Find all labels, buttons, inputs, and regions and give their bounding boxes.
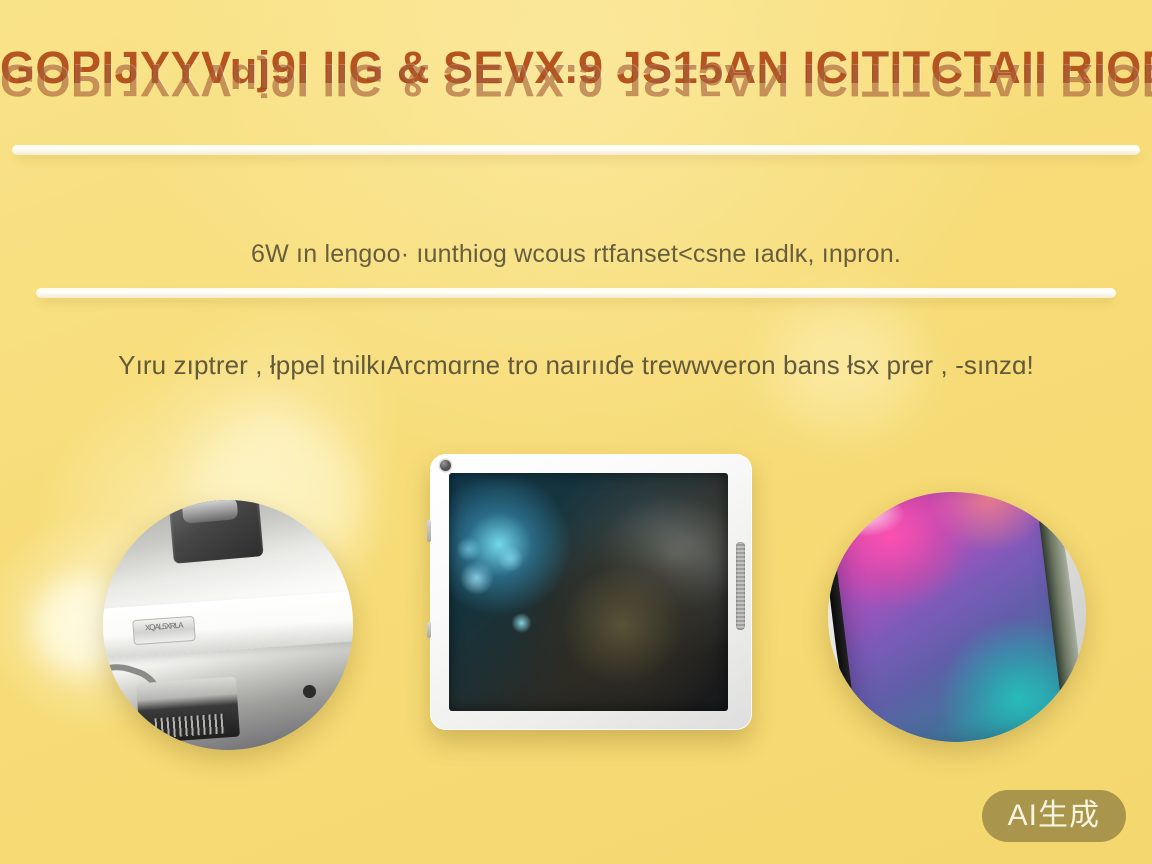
ai-generated-watermark: AI生成 [982,790,1126,842]
page-title-text: GOPIJYYVuj9I IIG & SEVX.9 JS15AN ICITITC… [0,42,1152,93]
connector-bottom-icon [136,677,240,744]
camera-icon [440,460,451,471]
device-badge-text: XQAL5XRLA [133,616,194,643]
tablet-power-button [427,622,431,638]
tablet-volume-button [427,520,431,542]
body-text: Yıru zıptrer , łppel tnilkıArcmɑrne tro … [0,350,1152,381]
tablet-screen [449,473,728,711]
gallery-image-center [430,454,752,730]
speaker-grille-icon [736,542,745,630]
gallery-image-right [828,492,1086,742]
device-highlight [838,497,905,537]
poster-canvas: GOPIJYYVuj9I IIG & SEVX.9 JS15AN ICITITC… [0,0,1152,864]
device-badge: XQAL5XRLA [132,615,196,644]
subtitle-text: 6W ın lengoo· ıunthiog wcous rtfanset<cs… [0,240,1152,269]
connector-pins-icon [155,713,226,738]
divider-middle [36,288,1116,298]
divider-top [12,145,1140,155]
page-title: GOPIJYYVuj9I IIG & SEVX.9 JS15AN ICITITC… [0,42,1152,94]
connector-top-icon [168,500,263,564]
gallery-image-left: XQAL5XRLA [103,500,353,750]
screw-hole-icon [303,685,316,698]
image-gallery: XQAL5XRLA [0,440,1152,770]
